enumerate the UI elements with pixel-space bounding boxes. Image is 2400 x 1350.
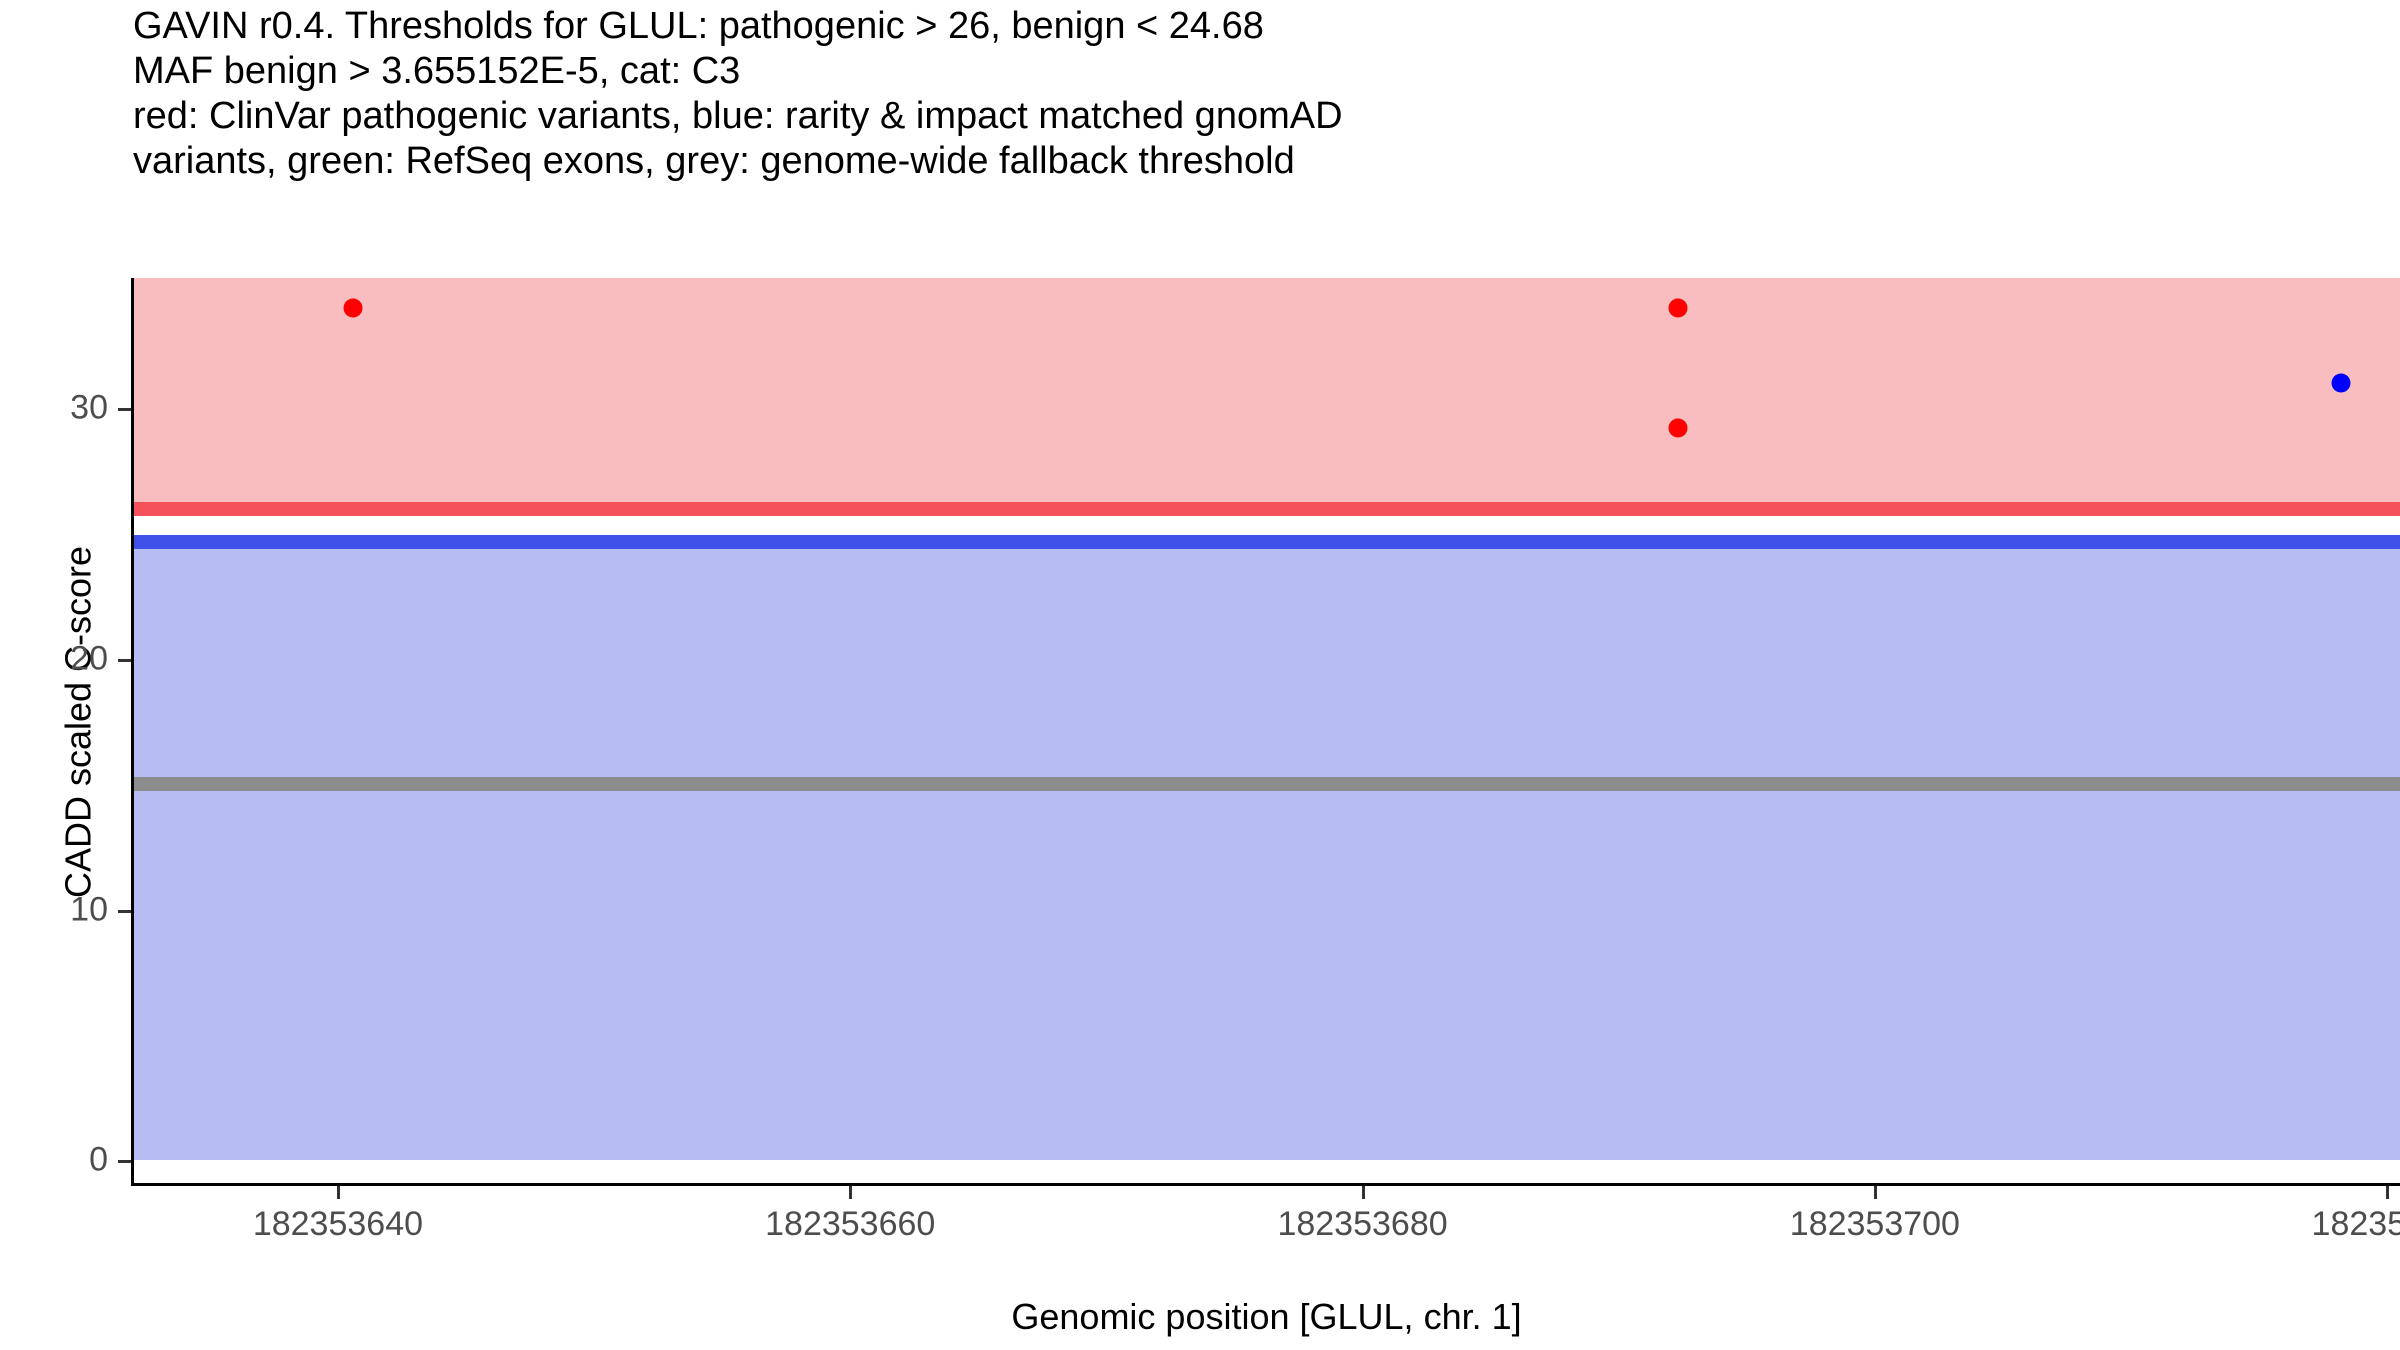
- chart-root: GAVIN r0.4. Thresholds for GLUL: pathoge…: [0, 0, 2400, 1350]
- chart-title-line-3: red: ClinVar pathogenic variants, blue: …: [133, 94, 2233, 139]
- x-axis-tick-label: 182353660: [765, 1205, 935, 1244]
- benign-threshold-line: [133, 535, 2400, 549]
- x-axis-tick-label: 182353700: [1790, 1205, 1960, 1244]
- chart-title-line-4: variants, green: RefSeq exons, grey: gen…: [133, 139, 2233, 184]
- x-axis-tick-label: 18235372: [2312, 1205, 2400, 1244]
- y-axis-tick: [118, 408, 131, 411]
- y-axis-tick-label: 10: [0, 890, 108, 929]
- x-axis-title: Genomic position [GLUL, chr. 1]: [133, 1296, 2400, 1338]
- pathogenic-threshold-line: [133, 502, 2400, 516]
- y-axis-tick: [118, 910, 131, 913]
- x-axis-tick: [1362, 1186, 1365, 1199]
- x-axis-tick-label: 182353640: [253, 1205, 423, 1244]
- plot-panel: [133, 278, 2400, 1183]
- data-point[interactable]: [344, 299, 363, 318]
- fallback-threshold-line: [133, 777, 2400, 791]
- x-axis-line: [133, 1183, 2400, 1186]
- chart-title-block: GAVIN r0.4. Thresholds for GLUL: pathoge…: [133, 4, 2233, 184]
- x-axis-tick: [337, 1186, 340, 1199]
- benign-band: [133, 542, 2400, 1161]
- x-axis-tick: [849, 1186, 852, 1199]
- data-point[interactable]: [1668, 299, 1687, 318]
- data-point[interactable]: [2332, 374, 2351, 393]
- y-axis-tick-label: 30: [0, 389, 108, 428]
- x-axis-tick-label: 182353680: [1277, 1205, 1447, 1244]
- y-axis-tick: [118, 1160, 131, 1163]
- y-axis-tick-label: 0: [0, 1141, 108, 1180]
- y-axis-tick-label: 20: [0, 640, 108, 679]
- chart-title-line-2: MAF benign > 3.655152E-5, cat: C3: [133, 49, 2233, 94]
- y-axis-line: [131, 278, 134, 1186]
- chart-title-line-1: GAVIN r0.4. Thresholds for GLUL: pathoge…: [133, 4, 2233, 49]
- pathogenic-band: [133, 278, 2400, 509]
- y-axis-tick: [118, 659, 131, 662]
- x-axis-tick: [1874, 1186, 1877, 1199]
- x-axis-tick: [2386, 1186, 2389, 1199]
- data-point[interactable]: [1668, 419, 1687, 438]
